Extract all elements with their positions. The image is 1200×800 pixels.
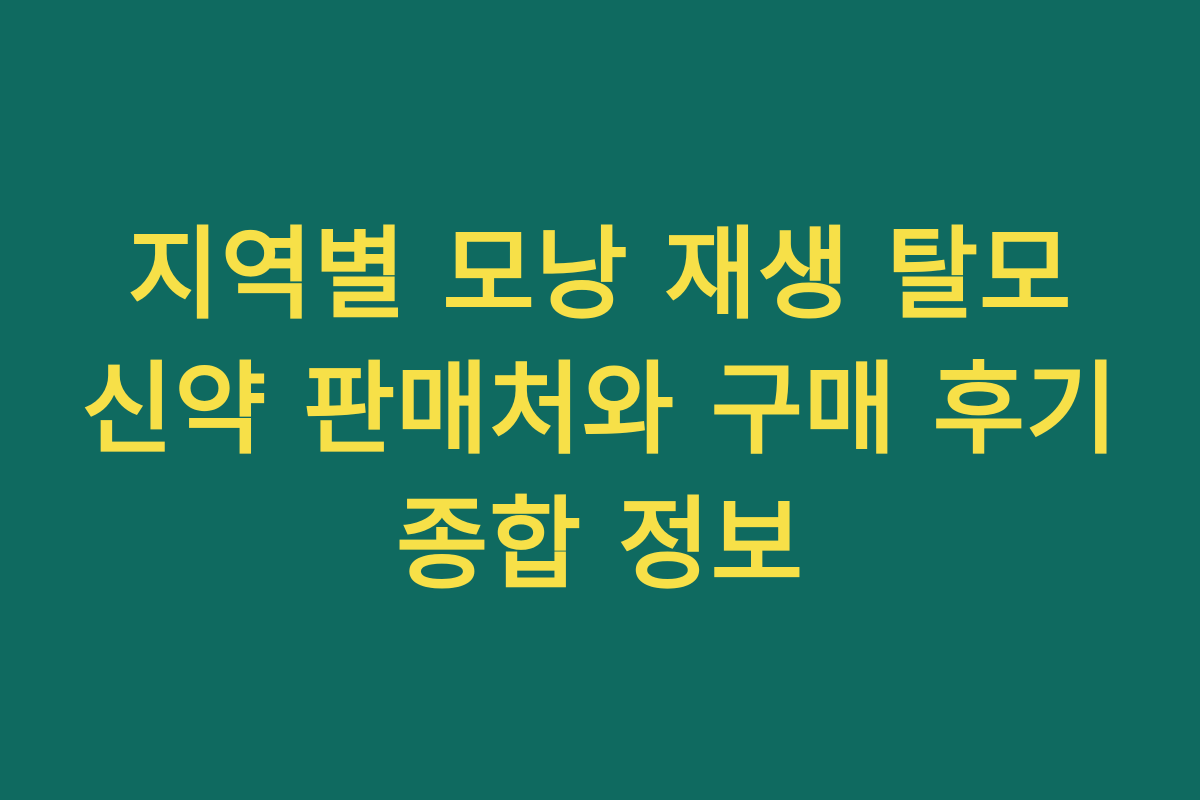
title-line-3: 종합 정보 (40, 477, 1160, 612)
title-text-block: 지역별 모낭 재생 탈모 신약 판매처와 구매 후기 종합 정보 (40, 207, 1160, 612)
title-line-1: 지역별 모낭 재생 탈모 (40, 207, 1160, 342)
title-line-2: 신약 판매처와 구매 후기 (40, 342, 1160, 477)
title-card-canvas: 지역별 모낭 재생 탈모 신약 판매처와 구매 후기 종합 정보 (0, 0, 1200, 800)
